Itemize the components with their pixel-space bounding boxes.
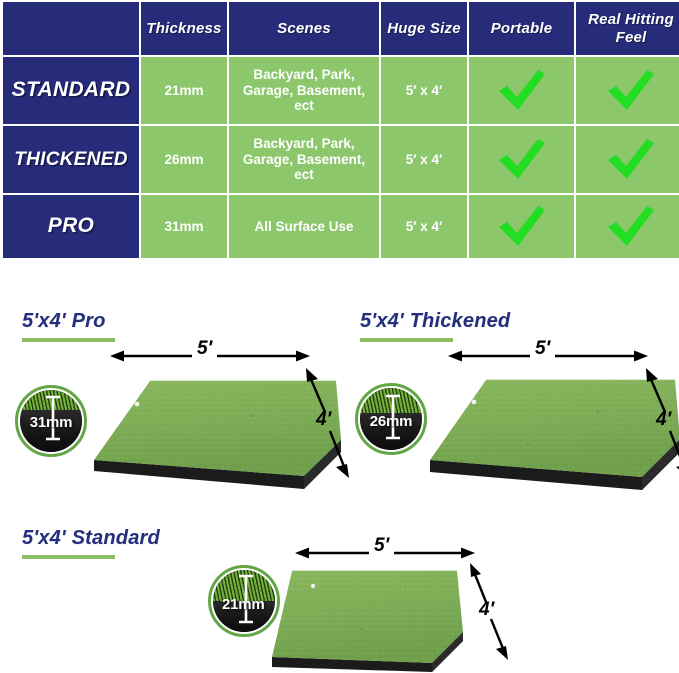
- title-underline: [360, 338, 453, 342]
- dimension-label-width-standard: 5′: [369, 535, 394, 557]
- table-cell-standard-size: 5′ x 4′: [381, 57, 467, 124]
- table-header-scenes: Scenes: [229, 2, 379, 55]
- dimension-label-depth-pro: 4′: [316, 409, 331, 431]
- table-row-label-standard: STANDARD: [3, 57, 139, 124]
- product-panel-thickened: 5'x4' Thickened: [360, 310, 679, 510]
- dimension-arrow-width-pro: 5′: [110, 348, 310, 364]
- check-icon: [495, 205, 549, 249]
- table-row-label-pro: PRO: [3, 195, 139, 258]
- table-cell-standard-real-hitting-feel: [576, 57, 679, 124]
- dimension-arrow-depth-thickened: 4′: [640, 365, 679, 485]
- table-cell-standard-thickness: 21mm: [141, 57, 227, 124]
- thickness-badge-value-standard: 21mm: [213, 596, 275, 613]
- thickness-badge-thickened: 26mm: [355, 383, 427, 455]
- table-cell-thickened-scenes: Backyard, Park, Garage, Basement, ect: [229, 126, 379, 193]
- product-title-thickened: 5'x4' Thickened: [360, 310, 679, 333]
- table-cell-thickened-thickness: 26mm: [141, 126, 227, 193]
- thickness-badge-value-thickened: 26mm: [360, 413, 422, 430]
- table-header-huge-size: Huge Size: [381, 2, 467, 55]
- table-cell-thickened-size: 5′ x 4′: [381, 126, 467, 193]
- table-cell-pro-portable: [469, 195, 574, 258]
- dimension-label-width-thickened: 5′: [530, 338, 555, 360]
- dimension-arrow-width-thickened: 5′: [448, 348, 648, 364]
- table-cell-standard-portable: [469, 57, 574, 124]
- thickness-badge-pro: 31mm: [15, 385, 87, 457]
- product-title-pro: 5'x4' Pro: [22, 310, 342, 333]
- dimension-arrow-depth-standard: 4′: [465, 561, 511, 665]
- dimension-arrow-depth-pro: 4′: [300, 365, 352, 485]
- table-row-label-thickened: THICKENED: [3, 126, 139, 193]
- table-cell-thickened-real-hitting-feel: [576, 126, 679, 193]
- title-underline: [22, 338, 115, 342]
- thickness-badge-standard: 21mm: [208, 565, 280, 637]
- comparison-table: Thickness Scenes Huge Size Portable Real…: [3, 2, 676, 254]
- table-cell-pro-size: 5′ x 4′: [381, 195, 467, 258]
- check-icon: [604, 138, 658, 182]
- product-panel-standard: 5'x4' Standard: [22, 527, 662, 666]
- title-underline: [22, 555, 115, 559]
- check-icon: [495, 69, 549, 113]
- table-cell-standard-scenes: Backyard, Park, Garage, Basement, ect: [229, 57, 379, 124]
- table-header-blank: [3, 2, 139, 55]
- table-header-portable: Portable: [469, 2, 574, 55]
- dimension-label-depth-standard: 4′: [479, 599, 494, 621]
- table-header-real-hitting-feel: Real Hitting Feel: [576, 2, 679, 55]
- check-icon: [604, 69, 658, 113]
- dimension-label-depth-thickened: 4′: [656, 409, 671, 431]
- dimension-label-width-pro: 5′: [192, 338, 217, 360]
- table-cell-thickened-portable: [469, 126, 574, 193]
- table-cell-pro-thickness: 31mm: [141, 195, 227, 258]
- table-header-thickness: Thickness: [141, 2, 227, 55]
- check-icon: [495, 138, 549, 182]
- table-cell-pro-scenes: All Surface Use: [229, 195, 379, 258]
- dimension-arrow-width-standard: 5′: [295, 545, 475, 561]
- product-panel-pro: 5'x4' Pro: [22, 310, 342, 510]
- check-icon: [604, 205, 658, 249]
- thickness-badge-value-pro: 31mm: [20, 414, 82, 431]
- table-cell-pro-real-hitting-feel: [576, 195, 679, 258]
